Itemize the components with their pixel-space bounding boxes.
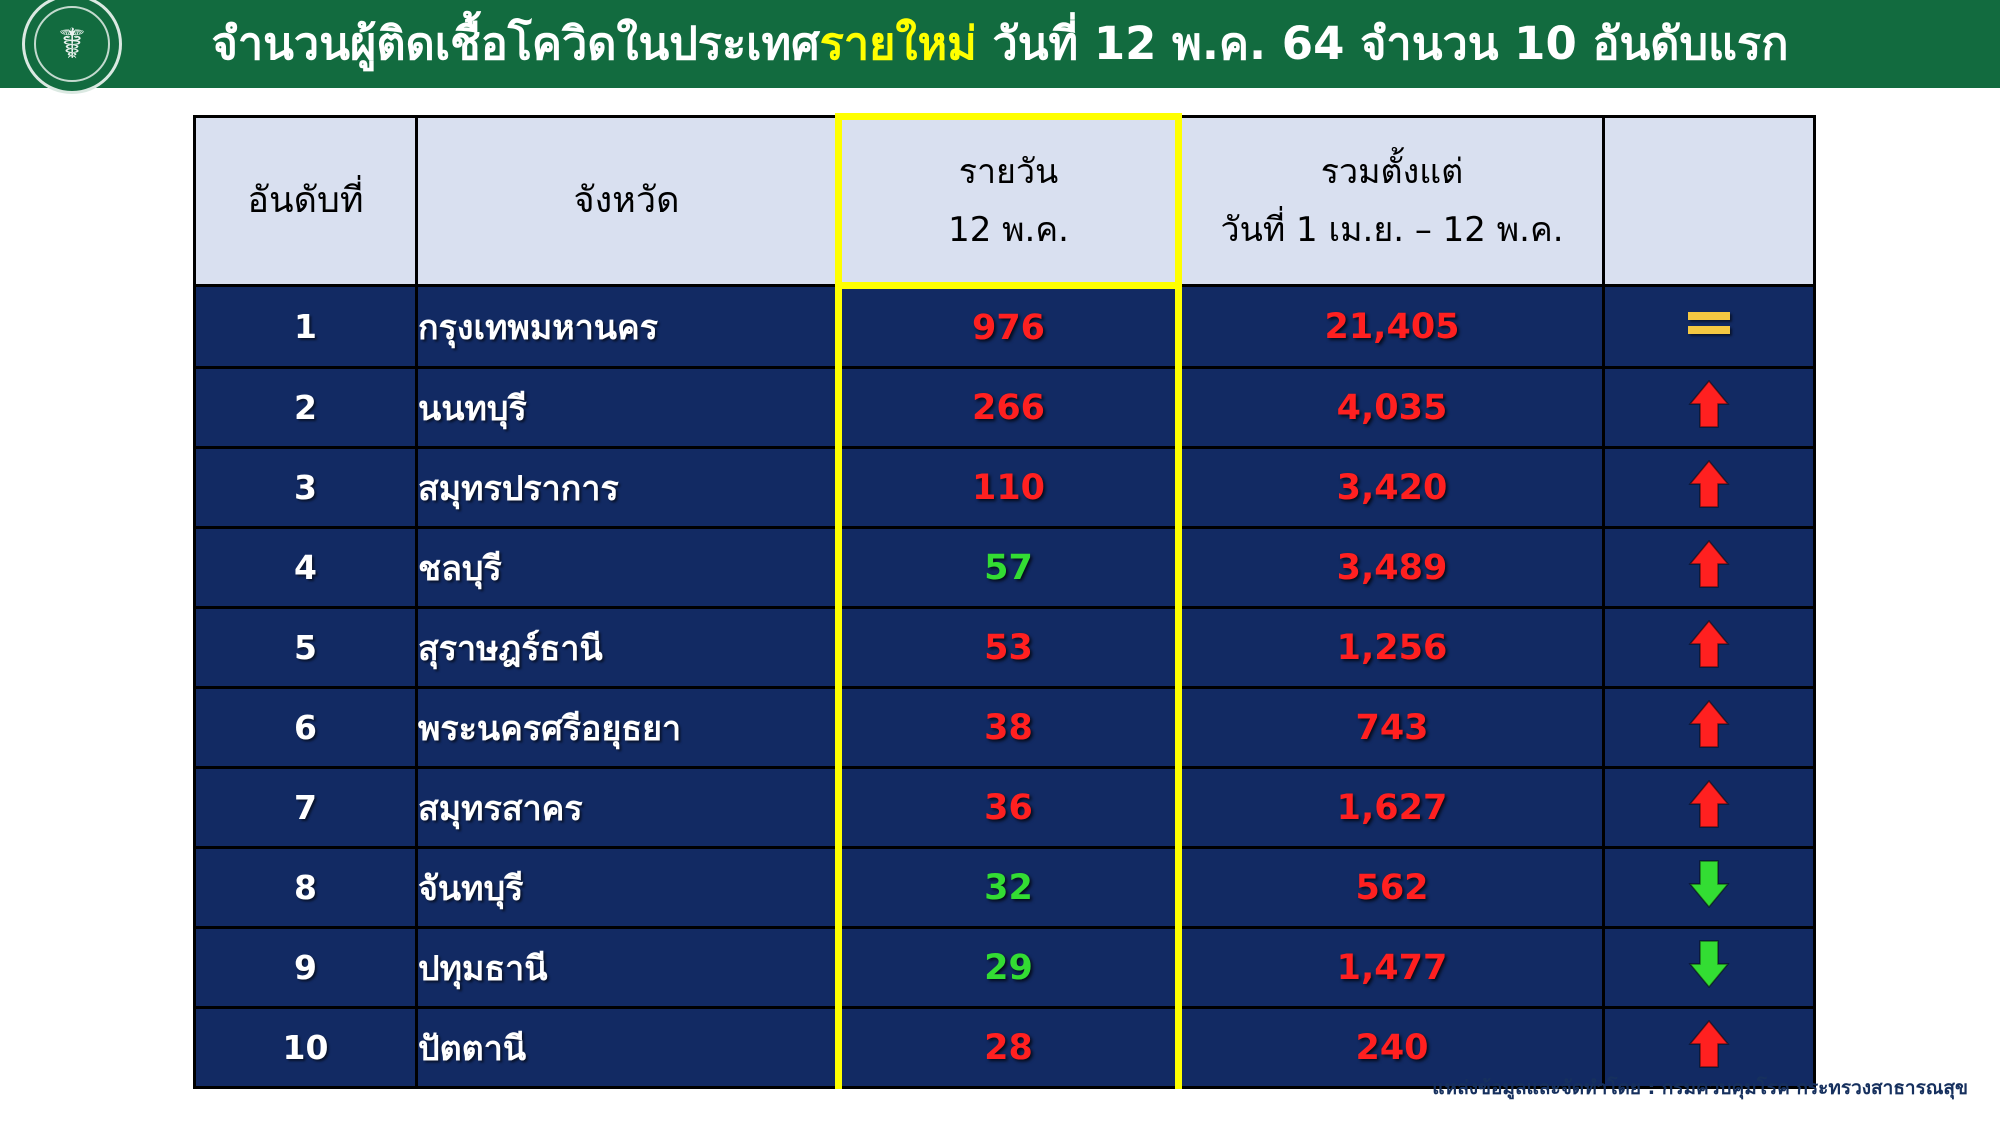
cell-daily-count: 32 (839, 848, 1179, 928)
cell-rank: 8 (195, 848, 417, 928)
cell-province: สมุทรสาคร (417, 768, 839, 848)
cell-trend (1604, 286, 1815, 368)
column-header-cumulative: รวมตั้งแต่ วันที่ 1 เม.ย. – 12 พ.ค. (1179, 117, 1604, 286)
cell-rank: 2 (195, 368, 417, 448)
cell-province: พระนครศรีอยุธยา (417, 688, 839, 768)
trend-up-icon (1687, 618, 1731, 677)
table-row: 5สุราษฎร์ธานี531,256 (195, 608, 1815, 688)
cell-cumulative-count: 21,405 (1179, 286, 1604, 368)
cell-province: ชลบุรี (417, 528, 839, 608)
cell-daily-count: 28 (839, 1008, 1179, 1088)
cell-trend (1604, 848, 1815, 928)
cell-rank: 7 (195, 768, 417, 848)
header-banner: ☤ จำนวนผู้ติดเชื้อโควิดในประเทศรายใหม่ ว… (0, 0, 2000, 88)
trend-up-icon (1687, 698, 1731, 757)
page-title-part2: วันที่ 12 พ.ค. 64 จำนวน 10 อันดับแรก (977, 17, 1789, 70)
table-row: 4ชลบุรี573,489 (195, 528, 1815, 608)
table-row: 6พระนครศรีอยุธยา38743 (195, 688, 1815, 768)
cell-rank: 10 (195, 1008, 417, 1088)
column-header-rank: อันดับที่ (195, 117, 417, 286)
source-note: แหล่งข้อมูลและจัดทำโดย : กรมควบคุมโรค กร… (1432, 1073, 1968, 1103)
cell-trend (1604, 528, 1815, 608)
trend-up-icon (1687, 1018, 1731, 1077)
cell-trend (1604, 928, 1815, 1008)
trend-up-icon (1687, 378, 1731, 437)
cell-daily-count: 266 (839, 368, 1179, 448)
column-header-province: จังหวัด (417, 117, 839, 286)
table-row: 9ปทุมธานี291,477 (195, 928, 1815, 1008)
cell-rank: 5 (195, 608, 417, 688)
column-header-trend (1604, 117, 1815, 286)
caduceus-icon: ☤ (22, 0, 122, 94)
trend-down-icon (1687, 858, 1731, 917)
table-row: 8จันทบุรี32562 (195, 848, 1815, 928)
column-header-daily-title: รายวัน (842, 155, 1175, 189)
cell-rank: 4 (195, 528, 417, 608)
table-header-row: อันดับที่ จังหวัด รายวัน 12 พ.ค. รวมตั้ง… (195, 117, 1815, 286)
cell-daily-count: 57 (839, 528, 1179, 608)
cell-daily-count: 110 (839, 448, 1179, 528)
trend-up-icon (1687, 538, 1731, 597)
column-header-cumulative-range: วันที่ 1 เม.ย. – 12 พ.ค. (1182, 213, 1602, 247)
cell-trend (1604, 768, 1815, 848)
column-header-cumulative-title: รวมตั้งแต่ (1182, 155, 1602, 189)
trend-equal-icon (1688, 306, 1730, 340)
table-row: 7สมุทรสาคร361,627 (195, 768, 1815, 848)
cell-rank: 6 (195, 688, 417, 768)
page-title-highlight: รายใหม่ (820, 17, 977, 70)
cell-trend (1604, 688, 1815, 768)
cell-rank: 1 (195, 286, 417, 368)
table-row: 2นนทบุรี2664,035 (195, 368, 1815, 448)
trend-up-icon (1687, 778, 1731, 837)
cell-cumulative-count: 3,420 (1179, 448, 1604, 528)
cell-cumulative-count: 1,627 (1179, 768, 1604, 848)
cell-rank: 9 (195, 928, 417, 1008)
cell-cumulative-count: 4,035 (1179, 368, 1604, 448)
ministry-logo: ☤ (22, 0, 122, 94)
cell-trend (1604, 608, 1815, 688)
cell-rank: 3 (195, 448, 417, 528)
page-title-part1: จำนวนผู้ติดเชื้อโควิดในประเทศ (212, 17, 820, 70)
trend-up-icon (1687, 458, 1731, 517)
table-row: 3สมุทรปราการ1103,420 (195, 448, 1815, 528)
column-header-daily: รายวัน 12 พ.ค. (839, 117, 1179, 286)
cell-cumulative-count: 1,256 (1179, 608, 1604, 688)
page-title: จำนวนผู้ติดเชื้อโควิดในประเทศรายใหม่ วัน… (0, 0, 2000, 88)
cell-province: สุราษฎร์ธานี (417, 608, 839, 688)
cell-cumulative-count: 1,477 (1179, 928, 1604, 1008)
cell-cumulative-count: 3,489 (1179, 528, 1604, 608)
cell-daily-count: 976 (839, 286, 1179, 368)
cell-province: กรุงเทพมหานคร (417, 286, 839, 368)
cell-province: ปทุมธานี (417, 928, 839, 1008)
cell-trend (1604, 448, 1815, 528)
cell-daily-count: 29 (839, 928, 1179, 1008)
cell-province: จันทบุรี (417, 848, 839, 928)
top10-province-table: อันดับที่ จังหวัด รายวัน 12 พ.ค. รวมตั้ง… (193, 113, 1816, 1089)
table-body: 1กรุงเทพมหานคร97621,4052นนทบุรี2664,0353… (195, 286, 1815, 1088)
ranking-table-wrap: อันดับที่ จังหวัด รายวัน 12 พ.ค. รวมตั้ง… (193, 113, 1813, 1089)
cell-cumulative-count: 743 (1179, 688, 1604, 768)
cell-trend (1604, 368, 1815, 448)
cell-province: นนทบุรี (417, 368, 839, 448)
cell-daily-count: 36 (839, 768, 1179, 848)
cell-cumulative-count: 562 (1179, 848, 1604, 928)
cell-province: สมุทรปราการ (417, 448, 839, 528)
cell-daily-count: 53 (839, 608, 1179, 688)
table-head: อันดับที่ จังหวัด รายวัน 12 พ.ค. รวมตั้ง… (195, 117, 1815, 286)
cell-daily-count: 38 (839, 688, 1179, 768)
column-header-daily-date: 12 พ.ค. (842, 213, 1175, 247)
table-row: 1กรุงเทพมหานคร97621,405 (195, 286, 1815, 368)
trend-down-icon (1687, 938, 1731, 997)
cell-province: ปัตตานี (417, 1008, 839, 1088)
